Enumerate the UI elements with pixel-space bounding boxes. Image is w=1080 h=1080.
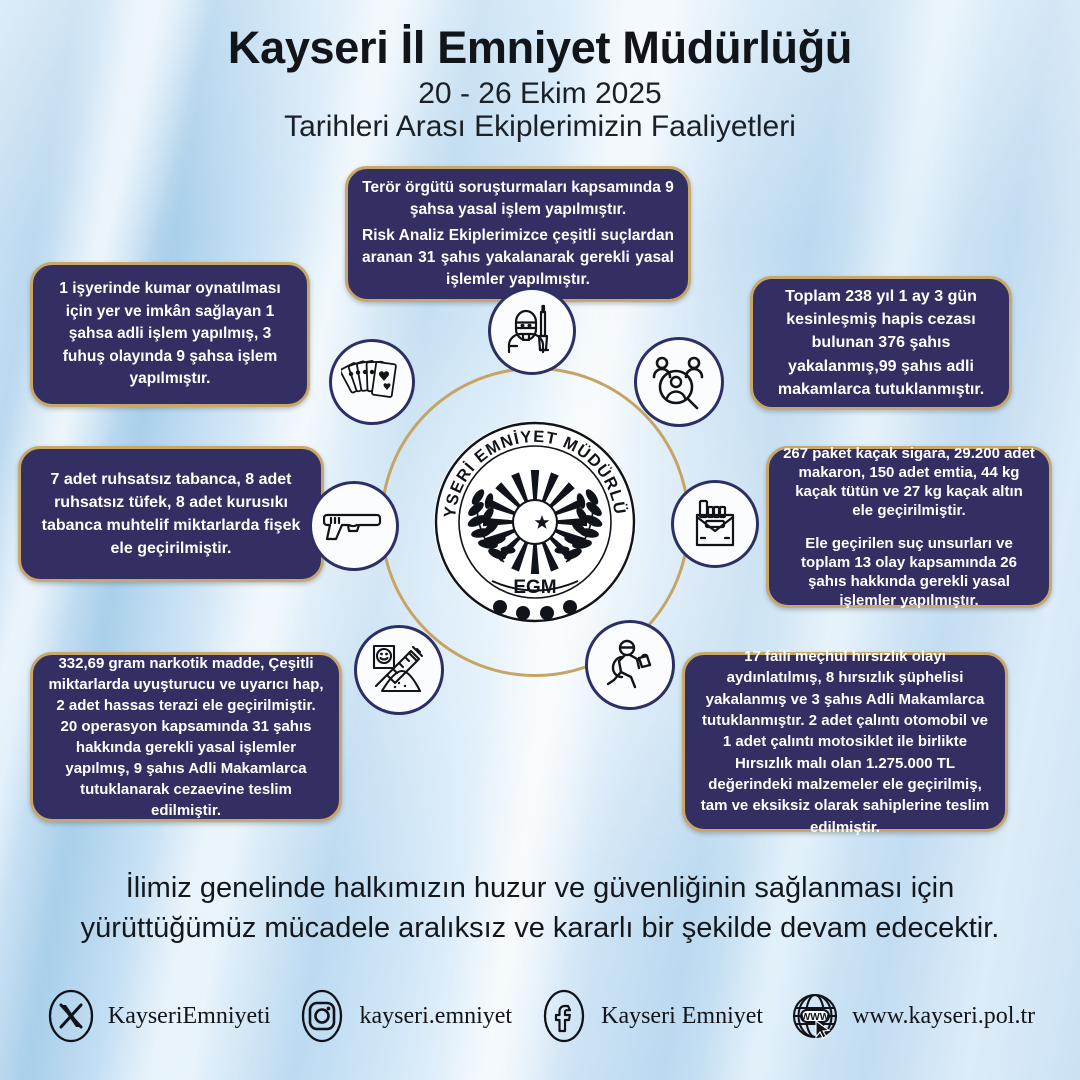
info-box-terror-line1: Terör örgütü soruşturmaları kapsamında 9…	[362, 177, 674, 221]
info-box-weapons-line1: 7 adet ruhsatsız tabanca, 8 adet ruhsats…	[35, 468, 307, 561]
emblem-star-icon	[483, 470, 587, 574]
info-box-gambling: 1 işyerinde kumar oynatılması için yer v…	[30, 262, 310, 407]
bubble-terror	[488, 287, 576, 375]
info-box-smuggling-line1: 267 paket kaçak sigara, 29.200 adet maka…	[783, 444, 1035, 521]
social-link-x[interactable]: KayseriEmniyeti	[45, 988, 271, 1044]
police-emblem-graphic: KAYSERİ EMNİYET MÜDÜRLÜĞÜ	[434, 421, 636, 623]
info-box-narcotics: 332,69 gram narkotik madde, Çeşitli mikt…	[30, 652, 342, 822]
drugs-syringe-icon	[369, 641, 429, 699]
bubble-weapons	[309, 481, 399, 571]
bubble-smuggling	[671, 480, 759, 568]
info-box-terror: Terör örgütü soruşturmaları kapsamında 9…	[345, 166, 691, 302]
info-box-narcotics-line1: 332,69 gram narkotik madde, Çeşitli mikt…	[47, 653, 325, 821]
handgun-icon	[323, 501, 385, 551]
globe-www-icon[interactable]: WWW	[789, 988, 841, 1044]
social-link-instagram-label[interactable]: kayseri.emniyet	[359, 1003, 512, 1030]
social-link-facebook-label[interactable]: Kayseri Emniyet	[601, 1003, 763, 1030]
info-box-smuggling: 267 paket kaçak sigara, 29.200 adet maka…	[766, 446, 1052, 608]
x-twitter-icon[interactable]	[45, 988, 97, 1044]
closing-statement-line2: yürüttüğümüz mücadele aralıksız ve karar…	[28, 908, 1052, 948]
infographic-page: Kayseri İl Emniyet Müdürlüğü 20 - 26 Eki…	[0, 0, 1080, 1080]
closing-statement: İlimiz genelinde halkımızın huzur ve güv…	[0, 868, 1080, 948]
info-box-weapons: 7 adet ruhsatsız tabanca, 8 adet ruhsats…	[18, 446, 324, 582]
police-emblem: KAYSERİ EMNİYET MÜDÜRLÜĞÜ	[434, 421, 636, 623]
info-box-theft: 17 faili meçhul hırsızlık olayı aydınlat…	[682, 652, 1008, 832]
social-link-x-label[interactable]: KayseriEmniyeti	[108, 1003, 271, 1030]
emblem-egm-text: EGM	[513, 577, 556, 598]
social-link-website[interactable]: WWW www.kayseri.pol.tr	[789, 988, 1035, 1044]
bubble-wanted-person	[634, 337, 724, 427]
page-subtitle: Tarihleri Arası Ekiplerimizin Faaliyetle…	[0, 111, 1080, 143]
social-link-facebook[interactable]: Kayseri Emniyet	[538, 988, 763, 1044]
info-box-prison-line1: Toplam 238 yıl 1 ay 3 gün kesinleşmiş ha…	[767, 285, 995, 401]
bubble-theft	[585, 620, 675, 710]
info-box-terror-line2: Risk Analiz Ekiplerimizce çeşitli suçlar…	[362, 225, 674, 291]
social-link-instagram[interactable]: kayseri.emniyet	[296, 988, 512, 1044]
info-box-smuggling-line2: Ele geçirilen suç unsurları ve toplam 13…	[783, 534, 1035, 611]
bubble-narcotics	[354, 625, 444, 715]
thief-running-icon	[601, 636, 659, 694]
info-box-prison-sentences: Toplam 238 yıl 1 ay 3 gün kesinleşmiş ha…	[750, 276, 1012, 410]
terrorist-icon	[503, 302, 561, 360]
wanted-person-search-icon	[649, 353, 709, 411]
playing-cards-icon	[341, 354, 403, 410]
instagram-icon[interactable]	[296, 988, 348, 1044]
page-header: Kayseri İl Emniyet Müdürlüğü 20 - 26 Eki…	[0, 24, 1080, 143]
social-links: KayseriEmniyeti kayseri.emniyet	[0, 988, 1080, 1044]
closing-statement-line1: İlimiz genelinde halkımızın huzur ve güv…	[28, 868, 1052, 908]
svg-text:WWW: WWW	[801, 1012, 830, 1023]
bubble-gambling	[329, 339, 415, 425]
social-link-website-label[interactable]: www.kayseri.pol.tr	[852, 1003, 1035, 1030]
facebook-icon[interactable]	[538, 988, 590, 1044]
info-box-theft-line1: 17 faili meçhul hırsızlık olayı aydınlat…	[699, 646, 991, 838]
date-range: 20 - 26 Ekim 2025	[0, 78, 1080, 110]
page-title: Kayseri İl Emniyet Müdürlüğü	[0, 24, 1080, 72]
info-box-gambling-line1: 1 işyerinde kumar oynatılması için yer v…	[47, 278, 293, 390]
cigarette-pack-icon	[690, 495, 740, 553]
